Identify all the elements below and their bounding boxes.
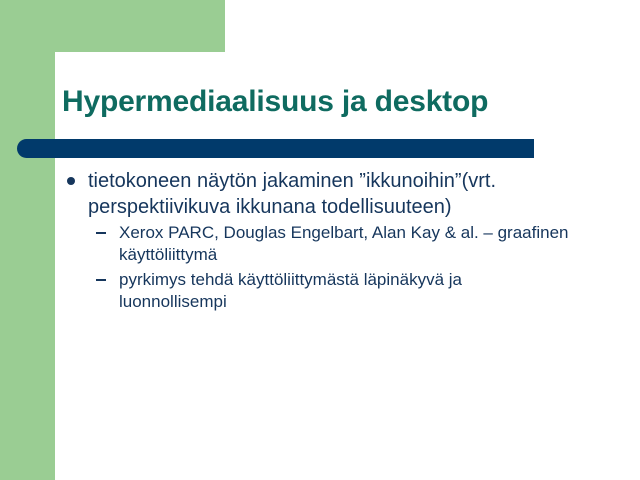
green-side-band: [0, 0, 55, 480]
disc-bullet-icon: [67, 177, 75, 185]
bullet-level1-text: tietokoneen näytön jakaminen ”ikkunoihin…: [88, 170, 496, 218]
slide-body: tietokoneen näytön jakaminen ”ikkunoihin…: [62, 168, 574, 319]
dash-bullet-icon: [96, 232, 106, 234]
presentation-slide: Hypermediaalisuus ja desktop tietokoneen…: [0, 0, 640, 480]
bullet-level2-text: pyrkimys tehdä käyttöliittymästä läpinäk…: [119, 270, 462, 311]
bullet-item-level1: tietokoneen näytön jakaminen ”ikkunoihin…: [62, 168, 574, 313]
bullet-item-level2: pyrkimys tehdä käyttöliittymästä läpinäk…: [88, 269, 574, 313]
green-top-band: [0, 0, 225, 52]
title-underline-bar: [17, 139, 534, 158]
bullet-level2-text: Xerox PARC, Douglas Engelbart, Alan Kay …: [119, 223, 569, 264]
bullet-item-level2: Xerox PARC, Douglas Engelbart, Alan Kay …: [88, 222, 574, 266]
sub-bullet-list: Xerox PARC, Douglas Engelbart, Alan Kay …: [88, 222, 574, 313]
slide-title: Hypermediaalisuus ja desktop: [62, 84, 582, 120]
dash-bullet-icon: [96, 279, 106, 281]
